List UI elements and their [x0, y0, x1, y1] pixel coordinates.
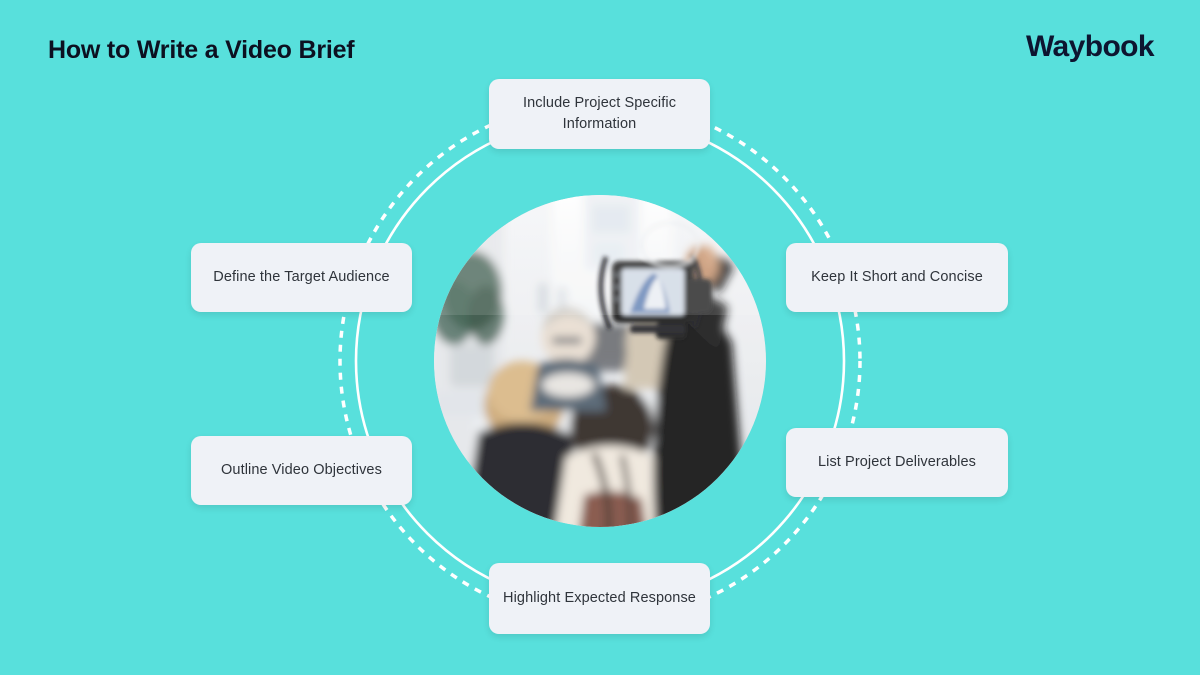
- page-title: How to Write a Video Brief: [48, 36, 354, 65]
- step-card-label: List Project Deliverables: [818, 452, 976, 473]
- step-card-label: Highlight Expected Response: [503, 588, 696, 609]
- step-card-outline-video-objectives[interactable]: Outline Video Objectives: [191, 436, 412, 505]
- center-photo: [434, 195, 766, 527]
- step-card-define-the-target-audience[interactable]: Define the Target Audience: [191, 243, 412, 312]
- step-card-list-project-deliverables[interactable]: List Project Deliverables: [786, 428, 1008, 497]
- step-card-label: Include Project Specific Information: [503, 93, 696, 135]
- step-card-label: Define the Target Audience: [213, 267, 389, 288]
- step-card-keep-it-short-and-concise[interactable]: Keep It Short and Concise: [786, 243, 1008, 312]
- waybook-logo: Waybook: [1026, 30, 1154, 64]
- step-card-label: Outline Video Objectives: [221, 460, 382, 481]
- step-card-label: Keep It Short and Concise: [811, 267, 983, 288]
- step-card-include-project-specific-information[interactable]: Include Project Specific Information: [489, 79, 710, 149]
- meeting-videography-photo: [434, 195, 766, 527]
- step-card-highlight-expected-response[interactable]: Highlight Expected Response: [489, 563, 710, 634]
